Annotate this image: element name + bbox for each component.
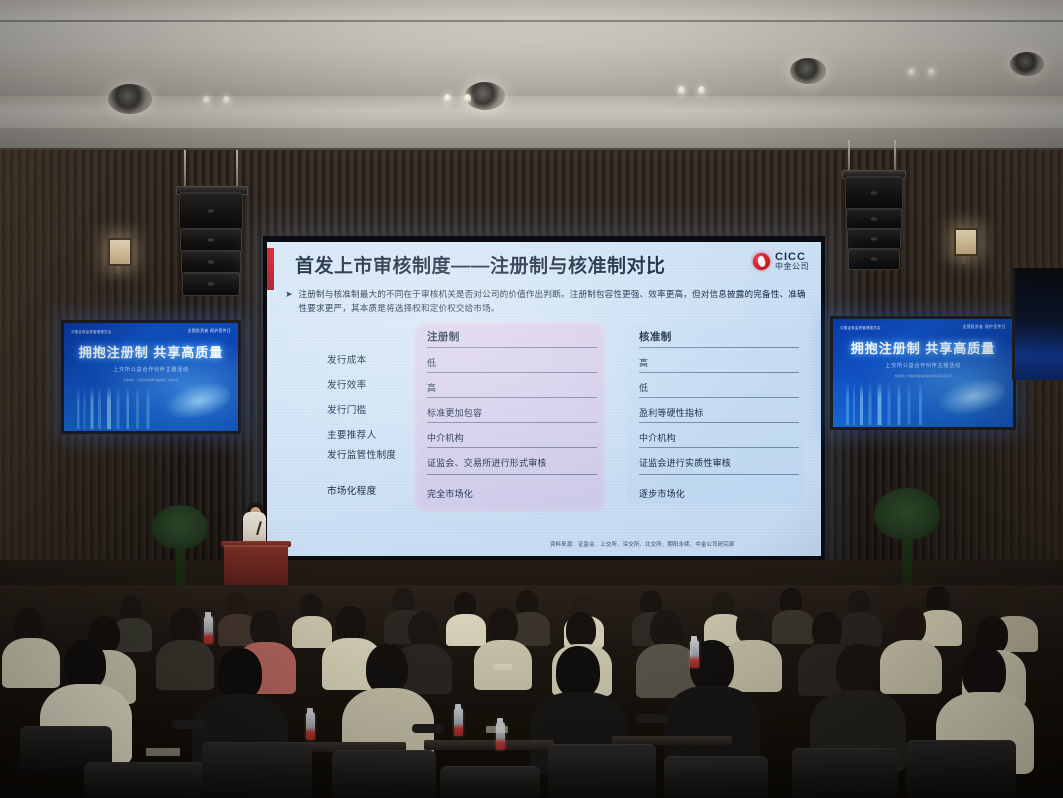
water-bottle (690, 640, 699, 668)
audience-chair (84, 762, 204, 798)
row-rule (427, 397, 597, 398)
ceiling-minilight-icon (203, 96, 210, 105)
ceiling-minilight-icon (678, 86, 685, 95)
banner-top-right-text: 全国投资者 保护宣传日 (188, 329, 231, 334)
speaker-rig-cable (236, 150, 238, 190)
row-label: 发行门槛 (327, 405, 367, 417)
row-rule (639, 397, 799, 398)
row-value-registration: 高 (427, 381, 436, 394)
chair-armrest (172, 720, 206, 729)
line-array-speaker (848, 248, 900, 270)
row-rule (427, 447, 597, 448)
row-rule (639, 372, 799, 373)
row-rule (427, 474, 597, 475)
audience-body (880, 640, 942, 694)
audience-chair (548, 744, 656, 798)
speaker-rig-cable (848, 140, 850, 174)
row-value-registration: 中介机构 (427, 431, 464, 444)
row-label: 发行效率 (327, 380, 367, 392)
column-header-approval: 核准制 (639, 329, 672, 344)
header-rule (639, 347, 799, 348)
banner-fine-print: 主办单位：上海证券交易所 协办单位：中金公司 (64, 379, 238, 383)
side-display-left: 中国证券监督管理委员会 全国投资者 保护宣传日 拥抱注册制 共享高质量 上交所公… (61, 320, 241, 434)
audience-head (650, 610, 682, 648)
comparison-table: 注册制 核准制 发行成本 低 高 发行效率 高 低 (281, 322, 809, 514)
row-label: 发行成本 (327, 355, 367, 367)
ceiling-minilight-icon (698, 86, 705, 95)
ceiling-sensor-icon (830, 140, 834, 144)
row-rule (427, 372, 597, 373)
bottle-cap (691, 636, 697, 641)
banner-top-left-text: 中国证券监督管理委员会 (840, 325, 881, 330)
header-rule (427, 347, 597, 348)
row-value-approval: 高 (639, 356, 648, 369)
wall-sconce-icon (954, 228, 978, 256)
chair-armrest (636, 714, 668, 723)
water-bottle (204, 616, 213, 644)
audience-head (812, 612, 842, 648)
row-rule (427, 422, 597, 423)
wall-sconce-icon (108, 238, 132, 266)
row-value-approval: 低 (639, 381, 648, 394)
audience-chair (906, 740, 1016, 798)
ceiling-minilight-icon (928, 68, 935, 77)
audience-head (736, 608, 766, 644)
audience-head (556, 646, 600, 698)
audience-head (64, 640, 106, 690)
audience-body (446, 614, 486, 646)
banner-top-right-text: 全国投资者 保护宣传日 (962, 325, 1005, 330)
slide-source-note: 资料来源：证监会、上交所、深交所、北交所、朝阳永续、中金公司研究部 (550, 540, 735, 548)
audience-body (292, 616, 332, 648)
audience-head (218, 648, 262, 700)
audience-head (408, 612, 438, 648)
row-value-approval: 证监会进行实质性审核 (639, 456, 731, 469)
audience-head (250, 610, 280, 646)
ceiling-downlight-icon (1010, 52, 1044, 76)
banner-headline: 拥抱注册制 共享高质量 (64, 342, 238, 361)
banner-fine-print: 支持单位：中国证券投资者保护基金有限责任公司 (833, 375, 1013, 379)
ceiling-downlight-icon (108, 84, 152, 114)
banner-headline: 拥抱注册制 共享高质量 (833, 338, 1013, 357)
row-label: 主要推荐人 (327, 430, 376, 442)
line-array-speaker (847, 228, 901, 250)
row-value-approval: 盈利等硬性指标 (639, 406, 703, 419)
auditorium-photo: 首发上市审核制度——注册制与核准制对比 CICC 中金公司 ➤ 注册制与核准制最… (0, 0, 1063, 798)
row-label: 市场化程度 (327, 486, 376, 498)
line-array-speaker (181, 250, 241, 274)
water-bottle (306, 712, 315, 740)
row-value-registration: 完全市场化 (427, 487, 473, 500)
audience-chair (440, 766, 540, 798)
ceiling-panel-second (0, 96, 1063, 132)
ceiling-panel (0, 0, 1063, 96)
cicc-logo-text: CICC 中金公司 (775, 252, 809, 271)
row-rule (639, 474, 799, 475)
bottle-cap (205, 612, 211, 617)
audience-head (894, 606, 926, 644)
audience-head (836, 644, 880, 696)
banner-subtitle: 上交所公益合作伙伴主题活动 (64, 366, 238, 373)
plant-foliage (152, 505, 208, 549)
line-array-speaker (182, 272, 240, 296)
event-banner: 中国证券监督管理委员会 全国投资者 保护宣传日 拥抱注册制 共享高质量 上交所公… (64, 323, 238, 431)
banner-top-left-text: 中国证券监督管理委员会 (71, 329, 112, 334)
presentation-slide: 首发上市审核制度——注册制与核准制对比 CICC 中金公司 ➤ 注册制与核准制最… (267, 242, 821, 556)
ceiling-minilight-icon (444, 94, 451, 103)
speaker-rig-cable (184, 150, 186, 190)
event-banner: 中国证券监督管理委员会 全国投资者 保护宣传日 拥抱注册制 共享高质量 上交所公… (833, 319, 1013, 427)
water-bottle (454, 708, 463, 736)
audience-body (840, 612, 882, 646)
row-value-registration: 低 (427, 356, 436, 369)
audience-head (14, 608, 44, 642)
handout-paper (494, 664, 512, 670)
handout-paper (146, 748, 180, 756)
cicc-swirl-icon (753, 253, 770, 270)
bottle-cap (307, 708, 313, 713)
banner-subtitle: 上交所公益合作伙伴主题活动 (833, 362, 1013, 369)
row-rule (639, 422, 799, 423)
title-accent-bar (267, 248, 274, 290)
bottle-cap (497, 718, 503, 723)
chair-armrest (412, 724, 444, 733)
line-array-speaker (845, 176, 903, 210)
slide-bullet-text: 注册制与核准制最大的不同在于审核机关是否对公司的价值作出判断。注册制包容性更强、… (299, 288, 807, 315)
line-array-speaker (179, 192, 243, 230)
slide-title: 首发上市审核制度——注册制与核准制对比 (295, 251, 666, 278)
potted-plant-right (872, 488, 944, 598)
audience-head (566, 612, 596, 648)
audience-body (772, 610, 814, 644)
row-label: 发行监管性制度 (327, 450, 413, 462)
ceiling-minilight-icon (223, 96, 230, 105)
row-value-registration: 标准更加包容 (427, 406, 482, 419)
line-array-speaker (846, 208, 902, 230)
corner-monitor (1012, 268, 1063, 380)
row-rule (639, 447, 799, 448)
audience-head (170, 608, 200, 644)
ceiling-minilight-icon (908, 68, 915, 77)
bullet-arrow-icon: ➤ (285, 288, 293, 315)
ceiling-seam (0, 20, 1063, 22)
audience-head (366, 644, 408, 694)
desk-strip (424, 740, 554, 750)
bottle-cap (455, 704, 461, 709)
ceiling-downlight-icon (465, 82, 505, 110)
audience-body (156, 640, 214, 690)
banner-skyline-graphic (71, 386, 168, 429)
row-value-approval: 中介机构 (639, 431, 676, 444)
row-value-registration: 证监会、交易所进行形式审核 (427, 456, 547, 469)
audience-head (336, 606, 366, 642)
audience-chair (202, 742, 312, 798)
table-grid: 注册制 核准制 发行成本 低 高 发行效率 高 低 (281, 322, 809, 514)
row-value-approval: 逐步市场化 (639, 487, 685, 500)
audience-chair (332, 750, 436, 798)
column-header-registration: 注册制 (427, 329, 460, 344)
main-projection-screen: 首发上市审核制度——注册制与核准制对比 CICC 中金公司 ➤ 注册制与核准制最… (263, 236, 825, 562)
ceiling-downlight-icon (790, 58, 826, 84)
audience-head (488, 608, 518, 644)
line-array-speaker (180, 228, 242, 252)
plant-foliage (874, 488, 940, 540)
speaker-rig-cable (894, 140, 896, 174)
audience-chair (792, 748, 898, 798)
cicc-logo: CICC 中金公司 (753, 252, 809, 271)
cicc-logo-chinese: 中金公司 (775, 263, 809, 271)
banner-skyline-graphic (840, 382, 941, 425)
handout-paper (486, 726, 508, 733)
audience-body (2, 638, 60, 688)
side-display-right: 中国证券监督管理委员会 全国投资者 保护宣传日 拥抱注册制 共享高质量 上交所公… (830, 316, 1016, 430)
slide-bullet: ➤ 注册制与核准制最大的不同在于审核机关是否对公司的价值作出判断。注册制包容性更… (285, 288, 807, 315)
audience-chair (664, 756, 768, 798)
ceiling-minilight-icon (464, 94, 471, 103)
audience-head (962, 646, 1006, 698)
